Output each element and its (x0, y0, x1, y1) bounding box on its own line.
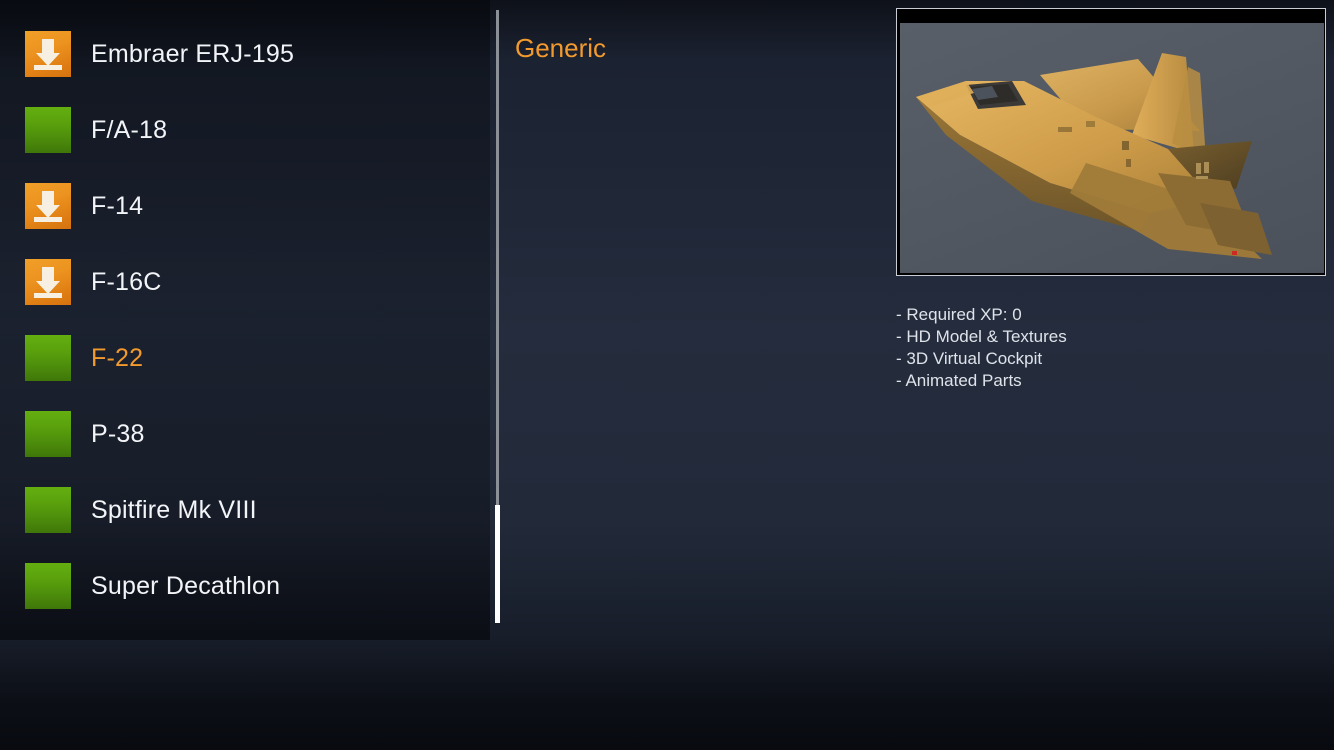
list-item-label: Super Decathlon (91, 572, 280, 601)
owned-green-badge (25, 563, 71, 609)
aircraft-preview-frame (896, 8, 1326, 276)
store-screen: Embraer ERJ-195 F/A-18 F-14 F-16C F-22 P… (0, 0, 1334, 750)
list-item[interactable]: Super Decathlon (0, 554, 490, 618)
feature-line: - Required XP: 0 (896, 304, 1316, 326)
list-item-label: F-22 (91, 344, 143, 373)
download-icon (25, 31, 71, 77)
list-item[interactable]: F/A-18 (0, 98, 490, 162)
feature-line: - HD Model & Textures (896, 326, 1316, 348)
list-item-selected[interactable]: F-22 (0, 326, 490, 390)
aircraft-list[interactable]: Embraer ERJ-195 F/A-18 F-14 F-16C F-22 P… (0, 0, 490, 640)
owned-green-badge (25, 335, 71, 381)
owned-green-badge (25, 411, 71, 457)
list-item[interactable]: F-16C (0, 250, 490, 314)
download-icon (25, 259, 71, 305)
bottom-bar: BACK Restore Purchases OK (0, 640, 1334, 750)
feature-line: - Animated Parts (896, 370, 1316, 392)
detail-category-title: Generic (515, 33, 606, 64)
feature-list: - Required XP: 0 - HD Model & Textures -… (896, 304, 1316, 392)
download-icon (25, 183, 71, 229)
feature-line: - 3D Virtual Cockpit (896, 348, 1316, 370)
list-item-label: F-14 (91, 192, 143, 221)
owned-green-badge (25, 487, 71, 533)
list-scrollbar-thumb[interactable] (495, 505, 500, 623)
list-item-label: F/A-18 (91, 116, 167, 145)
aircraft-preview-image (900, 23, 1324, 273)
list-item-label: F-16C (91, 268, 161, 297)
list-item[interactable]: P-38 (0, 402, 490, 466)
owned-green-badge (25, 107, 71, 153)
list-item[interactable]: Spitfire Mk VIII (0, 478, 490, 542)
list-item-label: P-38 (91, 420, 145, 449)
list-item[interactable]: Embraer ERJ-195 (0, 22, 490, 86)
list-item-label: Spitfire Mk VIII (91, 496, 257, 525)
list-item-label: Embraer ERJ-195 (91, 40, 294, 69)
list-item[interactable]: F-14 (0, 174, 490, 238)
detail-panel: Generic (512, 0, 882, 640)
